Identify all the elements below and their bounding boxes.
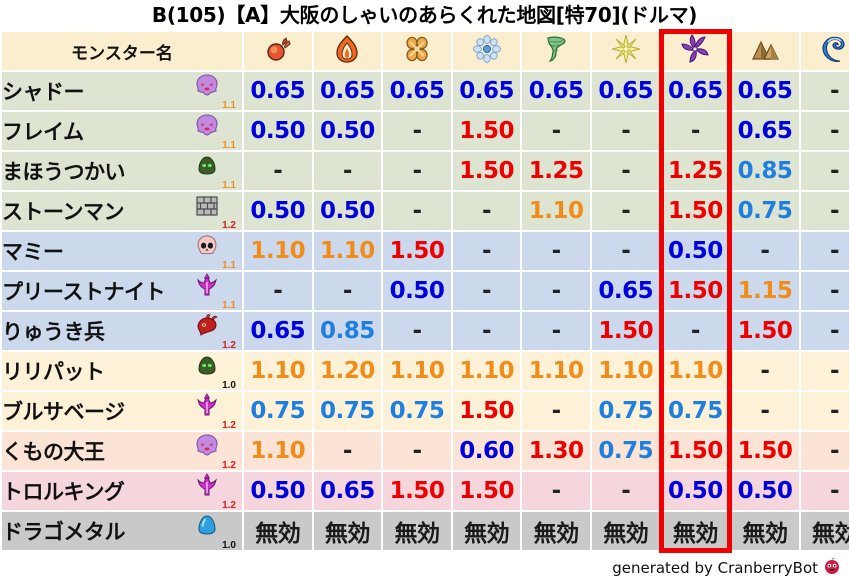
cranberry-icon [823,557,841,579]
table-row: マミー1.11.101.101.50---0.50-- [2,232,849,270]
column-header-mountain[interactable] [731,32,799,70]
resistance-value-cell: - [662,312,730,350]
monster-sprite-wrap: 1.1 [192,153,236,189]
meteor-icon [244,34,312,68]
resistance-value-cell: 0.75 [244,392,312,430]
resistance-value-cell: - [522,112,590,150]
table-row: りゅうき兵1.20.650.85---1.50-1.50- [2,312,849,350]
monster-name-cell[interactable]: くもの大王1.2 [2,432,242,470]
table-row: ブルサベージ1.20.750.750.751.50-0.750.75-- [2,392,849,430]
resistance-value-cell: 1.10 [314,232,382,270]
table-header-row: モンスター名 [2,32,849,70]
monster-name-cell[interactable]: シャドー1.1 [2,72,242,110]
resistance-value-cell: 1.50 [453,112,521,150]
resistance-value-cell: 1.10 [592,352,660,390]
resistance-value-cell: - [801,192,849,230]
resistance-value-cell: - [453,312,521,350]
monster-multiplier-badge: 1.1 [222,181,236,191]
monster-sprite-wrap: 1.1 [192,73,236,109]
resistance-value-cell: 無効 [522,512,590,550]
monster-name-label: フレイム [2,116,84,146]
snowflake-icon [453,34,521,68]
monster-sprite-wrap: 1.2 [192,313,236,349]
resistance-value-cell: 0.65 [731,112,799,150]
resistance-value-cell: 1.50 [453,472,521,510]
resistance-value-cell: 0.60 [453,432,521,470]
resistance-value-cell: - [801,152,849,190]
resistance-value-cell: 0.65 [453,72,521,110]
resistance-value-cell: 0.75 [662,392,730,430]
column-header-sparkle[interactable] [592,32,660,70]
resistance-value-cell: - [731,232,799,270]
resistance-value-cell: - [314,152,382,190]
resistance-value-cell: - [522,472,590,510]
resistance-value-cell: - [592,112,660,150]
resistance-value-cell: 無効 [314,512,382,550]
monster-sprite-wrap: 1.1 [192,233,236,269]
monster-name-cell[interactable]: プリーストナイト1.1 [2,272,242,310]
resistance-value-cell: - [453,232,521,270]
resistance-value-cell: 0.65 [314,72,382,110]
resistance-value-cell: 0.50 [244,472,312,510]
resistance-value-cell: 1.50 [453,392,521,430]
resistance-value-cell: - [592,472,660,510]
resistance-value-cell: - [453,192,521,230]
brick-wall-icon [194,193,220,223]
dark-swirl-icon [662,34,730,68]
monster-name-label: シャドー [2,76,84,106]
monster-name-cell[interactable]: ドラゴメタル1.0 [2,512,242,550]
resistance-value-cell: - [383,112,451,150]
resistance-value-cell: - [522,312,590,350]
resistance-value-cell: 0.65 [383,72,451,110]
resistance-value-cell: 1.50 [662,272,730,310]
column-header-wave[interactable] [801,32,849,70]
monster-name-cell[interactable]: トロルキング1.2 [2,472,242,510]
monster-name-cell[interactable]: リリパット1.0 [2,352,242,390]
table-row: ドラゴメタル1.0無効無効無効無効無効無効無効無効無効 [2,512,849,550]
resistance-value-cell: - [314,432,382,470]
resistance-value-cell: 0.50 [314,112,382,150]
monster-sprite-wrap: 1.2 [192,393,236,429]
wave-icon [801,34,849,68]
resistance-value-cell: - [244,272,312,310]
trident-magenta-icon [194,273,220,303]
resistance-value-cell: - [522,272,590,310]
resistance-value-cell: 1.10 [244,232,312,270]
resistance-value-cell: 0.65 [522,72,590,110]
resistance-value-cell: 0.50 [662,232,730,270]
column-header-tornado[interactable] [522,32,590,70]
slime-green-icon [194,353,220,383]
resistance-value-cell: - [244,152,312,190]
table-row: トロルキング1.20.500.651.501.50--0.500.50- [2,472,849,510]
resistance-value-cell: - [383,312,451,350]
monster-multiplier-badge: 1.2 [222,421,236,431]
ghost-purple-icon [194,113,220,143]
monster-multiplier-badge: 1.0 [222,381,236,391]
slime-blue-icon [194,513,220,543]
resistance-value-cell: 1.10 [244,352,312,390]
resistance-value-cell: 1.50 [731,312,799,350]
resistance-value-cell: 1.50 [383,232,451,270]
resistance-value-cell: 1.30 [522,432,590,470]
resistance-value-cell: - [731,392,799,430]
monster-name-label: まほうつかい [2,156,125,186]
monster-name-label: りゅうき兵 [2,316,105,346]
table-row: フレイム1.10.500.50-1.50---0.65- [2,112,849,150]
monster-name-label: ブルサベージ [2,396,125,426]
resistance-value-cell: 無効 [662,512,730,550]
table-row: ストーンマン1.20.500.50--1.10-1.500.75- [2,192,849,230]
table-row: リリパット1.01.101.201.101.101.101.101.10-- [2,352,849,390]
resistance-value-cell: 1.10 [453,352,521,390]
monster-sprite-wrap: 1.1 [192,113,236,149]
resistance-value-cell: - [592,152,660,190]
resistance-value-cell: - [801,112,849,150]
monster-name-label: ストーンマン [2,196,124,226]
resistance-value-cell: 無効 [731,512,799,550]
resistance-value-cell: 1.20 [314,352,382,390]
resistance-value-cell: - [522,392,590,430]
monster-multiplier-badge: 1.1 [222,141,236,151]
monster-multiplier-badge: 1.1 [222,301,236,311]
resistance-value-cell: 1.50 [453,152,521,190]
resistance-value-cell: 0.65 [731,72,799,110]
monster-sprite-wrap: 1.2 [192,433,236,469]
resistance-value-cell: 0.65 [592,72,660,110]
monster-sprite-wrap: 1.0 [192,513,236,549]
column-header-flame[interactable] [314,32,382,70]
resistance-value-cell: 0.50 [244,192,312,230]
monster-name-cell[interactable]: まほうつかい1.1 [2,152,242,190]
monster-name-cell[interactable]: りゅうき兵1.2 [2,312,242,350]
monster-name-label: マミー [2,236,64,266]
resistance-value-cell: 1.50 [662,432,730,470]
resistance-value-cell: - [522,232,590,270]
resistance-value-cell: - [592,192,660,230]
resistance-value-cell: 無効 [383,512,451,550]
monster-multiplier-badge: 1.1 [222,261,236,271]
resistance-value-cell: 0.50 [383,272,451,310]
resistance-value-cell: - [801,472,849,510]
resistance-value-cell: 0.75 [314,392,382,430]
resistance-value-cell: 1.10 [662,352,730,390]
resistance-value-cell: 0.75 [383,392,451,430]
column-header-meteor[interactable] [244,32,312,70]
resistance-value-cell: - [801,352,849,390]
footer-text: generated by CranberryBot [612,559,818,577]
resistance-value-cell: 0.50 [662,472,730,510]
monster-name-label: リリパット [2,356,105,386]
resistance-value-cell: 0.85 [314,312,382,350]
resistance-value-cell: 1.15 [731,272,799,310]
monster-name-label: トロルキング [2,476,124,506]
table-row: くもの大王1.21.10--0.601.300.751.501.50- [2,432,849,470]
resistance-value-cell: - [801,432,849,470]
resistance-value-cell: - [383,192,451,230]
monster-name-cell[interactable]: ストーンマン1.2 [2,192,242,230]
monster-name-label: くもの大王 [2,436,105,466]
resistance-value-cell: 0.75 [592,432,660,470]
resistance-value-cell: 0.65 [662,72,730,110]
monster-multiplier-badge: 1.2 [222,341,236,351]
column-header-monster-name: モンスター名 [2,32,242,70]
resistance-value-cell: - [453,272,521,310]
monster-sprite-wrap: 1.1 [192,273,236,309]
trident-magenta-icon [194,473,220,503]
monster-sprite-wrap: 1.2 [192,473,236,509]
ghost-purple-icon [194,73,220,103]
table-body: シャドー1.10.650.650.650.650.650.650.650.65-… [2,72,849,550]
resistance-value-cell: 1.25 [662,152,730,190]
sparkle-icon [592,34,660,68]
monster-multiplier-badge: 1.0 [222,541,236,551]
table-row: プリーストナイト1.1--0.50--0.651.501.15- [2,272,849,310]
resistance-value-cell: 0.75 [731,192,799,230]
monster-name-cell[interactable]: ブルサベージ1.2 [2,392,242,430]
monster-name-label: ドラゴメタル [2,516,125,546]
resistance-value-cell: - [592,232,660,270]
resistance-value-cell: - [731,352,799,390]
resistance-value-cell: 1.10 [383,352,451,390]
resistance-value-cell: - [383,432,451,470]
resistance-value-cell: 0.75 [592,392,660,430]
resistance-value-cell: 無効 [592,512,660,550]
monster-sprite-wrap: 1.0 [192,353,236,389]
resistance-value-cell: 0.85 [731,152,799,190]
resistance-value-cell: 1.50 [731,432,799,470]
monster-name-cell[interactable]: マミー1.1 [2,232,242,270]
resistance-value-cell: - [801,272,849,310]
skull-icon [194,233,220,263]
monster-multiplier-badge: 1.2 [222,501,236,511]
resistance-value-cell: 0.50 [314,192,382,230]
resistance-value-cell: 0.50 [731,472,799,510]
resistance-value-cell: 無効 [244,512,312,550]
tornado-icon [522,34,590,68]
resistance-value-cell: - [314,272,382,310]
ghost-purple-icon [194,433,220,463]
resistance-table: モンスター名 シャドー1.10.650.650.650.650.650.650.… [0,30,849,552]
monster-multiplier-badge: 1.2 [222,221,236,231]
resistance-value-cell: 1.50 [592,312,660,350]
table-header: モンスター名 [2,32,849,70]
page-title: B(105)【A】大阪のしゃいのあらくれた地図[特70](ドルマ) [0,0,849,30]
slime-green-icon [194,153,220,183]
monster-sprite-wrap: 1.2 [192,193,236,229]
flame-icon [314,34,382,68]
resistance-value-cell: 1.25 [522,152,590,190]
resistance-value-cell: 0.65 [244,312,312,350]
mountain-icon [731,34,799,68]
resistance-value-cell: 1.10 [522,192,590,230]
table-row: シャドー1.10.650.650.650.650.650.650.650.65- [2,72,849,110]
resistance-value-cell: 0.65 [244,72,312,110]
monster-name-cell[interactable]: フレイム1.1 [2,112,242,150]
resistance-value-cell: - [801,72,849,110]
resistance-value-cell: - [383,152,451,190]
resistance-value-cell: 0.50 [244,112,312,150]
column-header-snowflake[interactable] [453,32,521,70]
resistance-value-cell: 0.65 [592,272,660,310]
column-header-dark-swirl[interactable] [662,32,730,70]
resistance-value-cell: 無効 [453,512,521,550]
resistance-value-cell: 1.10 [244,432,312,470]
monster-multiplier-badge: 1.2 [222,461,236,471]
resistance-table-page: B(105)【A】大阪のしゃいのあらくれた地図[特70](ドルマ) モンスター名… [0,0,849,583]
resistance-value-cell: 1.50 [383,472,451,510]
explosion-icon [383,34,451,68]
footer-credit: generated by CranberryBot [612,557,841,579]
trident-magenta-icon [194,393,220,423]
resistance-value-cell: 0.65 [314,472,382,510]
resistance-value-cell: 1.50 [662,192,730,230]
resistance-value-cell: - [662,112,730,150]
resistance-value-cell: 1.10 [522,352,590,390]
monster-name-label: プリーストナイト [2,276,165,306]
resistance-value-cell: - [801,312,849,350]
dragon-red-icon [194,313,220,343]
monster-multiplier-badge: 1.1 [222,101,236,111]
resistance-value-cell: - [801,232,849,270]
resistance-value-cell: 無効 [801,512,849,550]
table-row: まほうつかい1.1---1.501.25-1.250.85- [2,152,849,190]
column-header-explosion[interactable] [383,32,451,70]
resistance-value-cell: - [801,392,849,430]
